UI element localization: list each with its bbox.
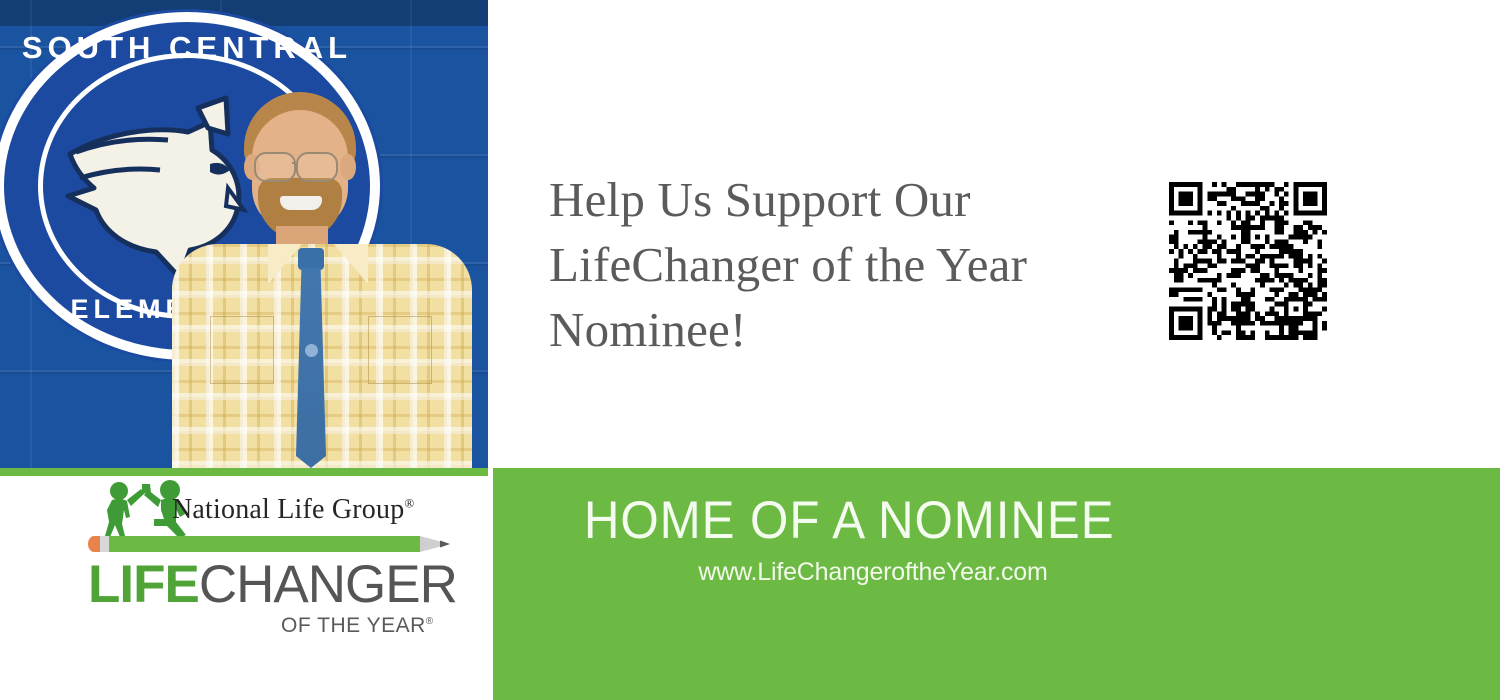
eyeglass-bridge: [292, 162, 298, 164]
shirt-pocket-left: [210, 316, 274, 384]
nlg-name: National Life Group: [172, 494, 404, 525]
lifechanger-wordmark: LIFECHANGER: [88, 558, 457, 611]
necktie-pin: [305, 344, 318, 357]
smile: [280, 196, 322, 210]
qr-code[interactable]: [1169, 182, 1327, 340]
necktie-knot: [298, 248, 324, 270]
collar-left: [268, 244, 302, 284]
lifechanger-logo-panel: National Life Group® LIFECHANGER OF THE …: [0, 476, 491, 700]
wordmark-life: LIFE: [88, 555, 199, 614]
nominee-photo: SOUTH CENTRAL ELEMENTARY: [0, 0, 488, 468]
tagline-text: OF THE YEAR: [281, 614, 426, 637]
seal-text-top: SOUTH CENTRAL: [4, 30, 370, 66]
headline-line-1: Help Us Support Our: [549, 167, 1149, 232]
home-of-a-nominee-banner: HOME OF A NOMINEE www.LifeChangeroftheYe…: [493, 468, 1500, 700]
lifechanger-logo: National Life Group® LIFECHANGER OF THE …: [88, 478, 468, 638]
banner-title: HOME OF A NOMINEE: [533, 490, 1165, 551]
banner-url[interactable]: www.LifeChangeroftheYear.com: [533, 558, 1213, 587]
page-title: Help Us Support Our LifeChanger of the Y…: [549, 167, 1149, 362]
headline-line-3: Nominee!: [549, 297, 1149, 362]
eyeglass-right: [296, 152, 338, 182]
green-divider-rule: [0, 468, 488, 476]
wordmark-changer: CHANGER: [199, 555, 457, 614]
pencil-icon: [88, 534, 460, 556]
wordmark-tagline: OF THE YEAR®: [281, 614, 434, 638]
headline-line-2: LifeChanger of the Year: [549, 232, 1149, 297]
eyeglass-left: [254, 152, 296, 182]
ear-right: [340, 154, 356, 180]
nlg-registered-mark: ®: [404, 496, 414, 511]
poster-canvas: SOUTH CENTRAL ELEMENTARY: [0, 0, 1500, 700]
national-life-group-text: National Life Group®: [172, 494, 414, 526]
tagline-registered-mark: ®: [426, 616, 434, 627]
shirt-pocket-right: [368, 316, 432, 384]
collar-right: [334, 244, 368, 284]
person-figure: [172, 92, 472, 468]
